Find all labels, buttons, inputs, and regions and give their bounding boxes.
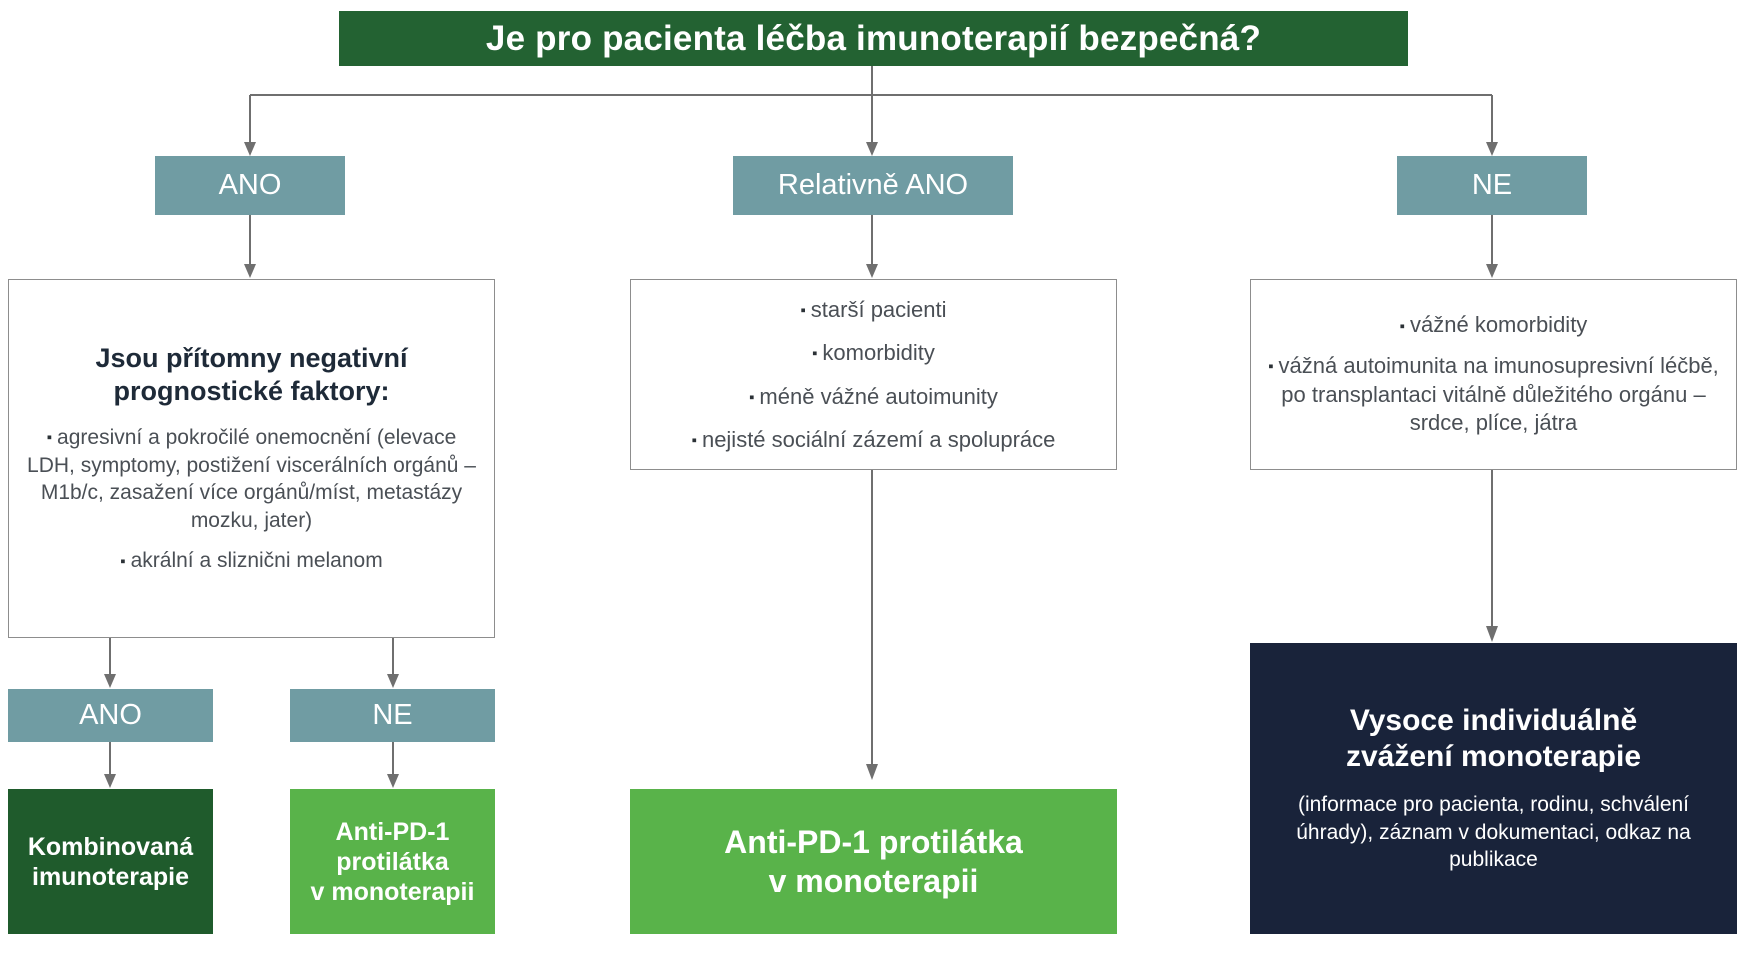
criteria-middle-item-3: nejisté sociální zázemí a spolupráce [702, 427, 1055, 452]
criteria-right-item-0: vážné komorbidity [1410, 312, 1587, 337]
criteria-right-item-1: vážná autoimunita na imunosupresivní léč… [1279, 353, 1719, 435]
outcome-combination-line1: Kombinovaná [28, 832, 193, 862]
branch-chip-yes[interactable]: ANO [155, 156, 345, 215]
branch-chip-no[interactable]: NE [1397, 156, 1587, 215]
flowchart-canvas: Je pro pacienta léčba imunoterapií bezpe… [0, 0, 1744, 959]
criteria-middle-item-0: starší pacienti [811, 297, 947, 322]
outcome-individual-note: (informace pro pacienta, rodinu, schvále… [1264, 791, 1723, 874]
criteria-left-list: ▪agresivní a pokročilé onemocnění (eleva… [25, 424, 478, 576]
outcome-combination-line2: imunoterapie [32, 862, 189, 892]
list-item: ▪komorbidity [647, 338, 1100, 367]
bullet-icon: ▪ [812, 345, 817, 362]
criteria-left-item-0: agresivní a pokročilé onemocnění (elevac… [27, 426, 476, 533]
criteria-middle-list: ▪starší pacienti ▪komorbidity ▪méně vážn… [647, 295, 1100, 454]
outcome-antipd1-mono-middle: Anti-PD-1 protilátka v monoterapii [630, 789, 1117, 934]
outcome-antipd1-mono-left: Anti-PD-1 protilátka v monoterapii [290, 789, 495, 934]
list-item: ▪starší pacienti [647, 295, 1100, 324]
list-item: ▪akrální a sliznični melanom [25, 547, 478, 575]
criteria-middle-item-1: komorbidity [822, 340, 934, 365]
list-item: ▪méně vážné autoimunity [647, 382, 1100, 411]
branch-chip-no-label: NE [1472, 169, 1512, 202]
sub-chip-yes[interactable]: ANO [8, 689, 213, 742]
branch-chip-relative-yes[interactable]: Relativně ANO [733, 156, 1013, 215]
outcome-individual-line2: zvážení monoterapie [1346, 739, 1641, 775]
list-item: ▪vážné komorbidity [1267, 311, 1720, 340]
outcome-combination-immunotherapy: Kombinovaná imunoterapie [8, 789, 213, 934]
bullet-icon: ▪ [749, 389, 754, 406]
list-item: ▪agresivní a pokročilé onemocnění (eleva… [25, 424, 478, 536]
list-item: ▪vážná autoimunita na imunosupresivní lé… [1267, 352, 1720, 438]
criteria-box-middle: ▪starší pacienti ▪komorbidity ▪méně vážn… [630, 279, 1117, 470]
criteria-middle-item-2: méně vážné autoimunity [759, 384, 997, 409]
branch-chip-relative-yes-label: Relativně ANO [778, 169, 968, 202]
outcome-antipd1-left-line3: v monoterapii [311, 877, 475, 907]
outcome-antipd1-middle-line2: v monoterapii [769, 862, 979, 900]
outcome-individual-assessment: Vysoce individuálně zvážení monoterapie … [1250, 643, 1737, 934]
sub-chip-no-label: NE [372, 699, 412, 732]
outcome-antipd1-left-line1: Anti-PD-1 [336, 817, 450, 847]
outcome-antipd1-middle-line1: Anti-PD-1 protilátka [724, 823, 1023, 861]
outcome-individual-line1: Vysoce individuálně [1350, 703, 1637, 739]
bullet-icon: ▪ [692, 432, 697, 449]
criteria-left-heading: Jsou přítomny negativní prognostické fak… [25, 342, 478, 408]
chart-title-banner: Je pro pacienta léčba imunoterapií bezpe… [339, 11, 1408, 66]
outcome-antipd1-left-line2: protilátka [336, 847, 449, 877]
chart-title-text: Je pro pacienta léčba imunoterapií bezpe… [486, 19, 1261, 59]
criteria-right-list: ▪vážné komorbidity ▪vážná autoimunita na… [1267, 311, 1720, 437]
bullet-icon: ▪ [47, 429, 52, 446]
bullet-icon: ▪ [1268, 358, 1273, 375]
list-item: ▪nejisté sociální zázemí a spolupráce [647, 425, 1100, 454]
bullet-icon: ▪ [1400, 318, 1405, 335]
criteria-left-item-1: akrální a sliznični melanom [131, 549, 383, 572]
branch-chip-yes-label: ANO [219, 169, 282, 202]
criteria-box-left: Jsou přítomny negativní prognostické fak… [8, 279, 495, 638]
sub-chip-no[interactable]: NE [290, 689, 495, 742]
bullet-icon: ▪ [800, 302, 805, 319]
bullet-icon: ▪ [120, 553, 125, 570]
criteria-box-right: ▪vážné komorbidity ▪vážná autoimunita na… [1250, 279, 1737, 470]
sub-chip-yes-label: ANO [79, 699, 142, 732]
